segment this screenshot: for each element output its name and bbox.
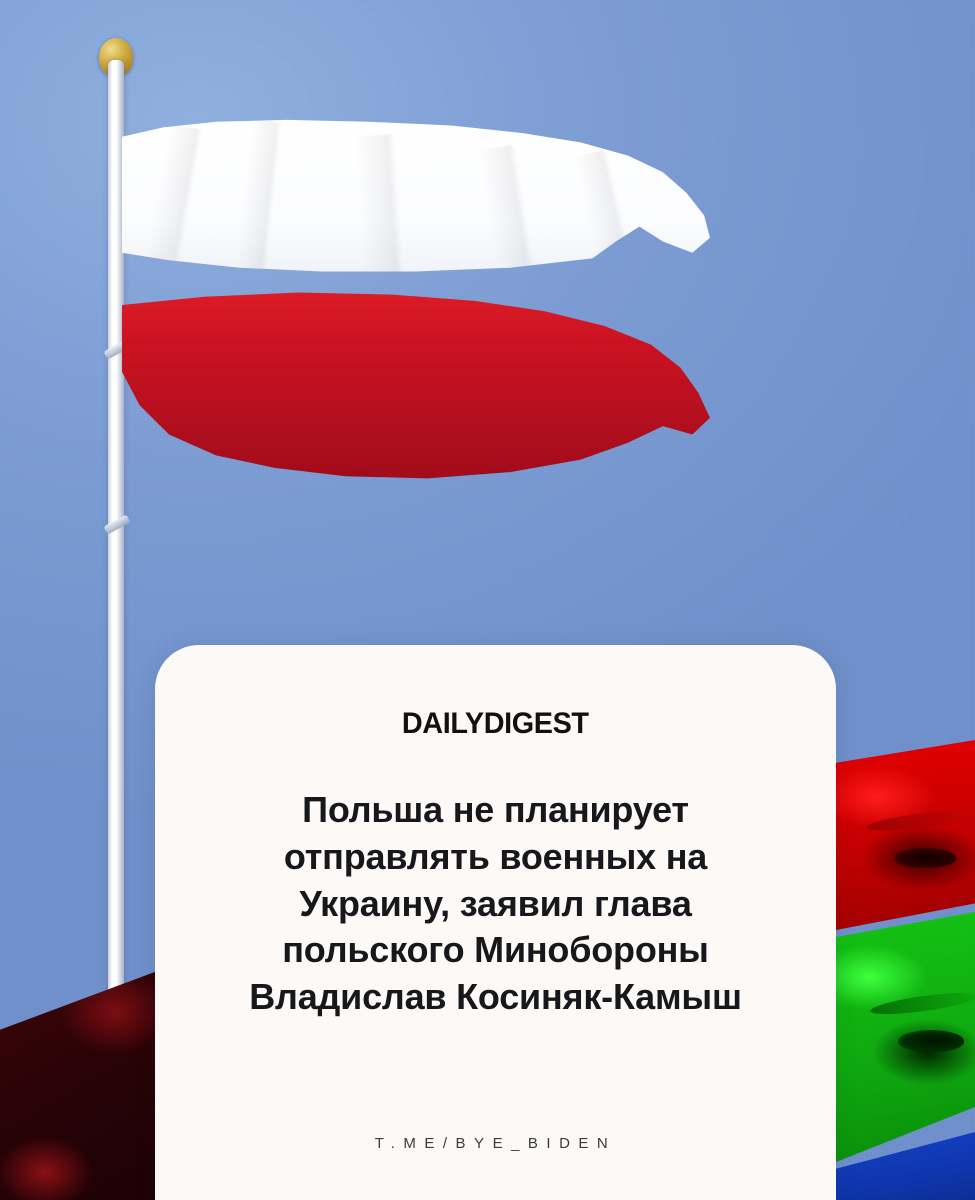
- polish-flag-cloth: [122, 118, 710, 478]
- headline-text: Польша не планирует отправлять военных н…: [216, 787, 776, 1021]
- flag-white-band: [122, 118, 710, 305]
- eyebrow-shape: [866, 808, 971, 835]
- portrait-green-channel-band: [836, 912, 975, 1162]
- rgb-split-portrait-strip: [836, 740, 975, 1200]
- cloth-fold: [575, 143, 669, 312]
- social-media-post-image: DAILYDIGEST Польша не планирует отправля…: [0, 0, 975, 1200]
- eyebrow-shape: [869, 989, 975, 1019]
- polish-flag-photo: [0, 0, 780, 660]
- cloth-fold: [328, 468, 416, 622]
- portrait-red-channel-band: [836, 740, 975, 930]
- eye-shape: [894, 848, 956, 868]
- cloth-fold: [573, 450, 676, 612]
- cloth-fold: [469, 461, 571, 628]
- cloth-fold: [171, 456, 265, 624]
- caption-card: DAILYDIGEST Польша не планирует отправля…: [155, 645, 836, 1200]
- cloth-fold: [479, 140, 571, 318]
- brand-title: DAILYDIGEST: [402, 707, 589, 741]
- cloth-fold: [356, 132, 438, 316]
- flag-red-band: [122, 280, 710, 489]
- eye-shape: [898, 1030, 964, 1052]
- caption-card-content: DAILYDIGEST Польша не планирует отправля…: [155, 645, 836, 1200]
- channel-url: T.ME/BYE_BIDEN: [155, 1135, 836, 1152]
